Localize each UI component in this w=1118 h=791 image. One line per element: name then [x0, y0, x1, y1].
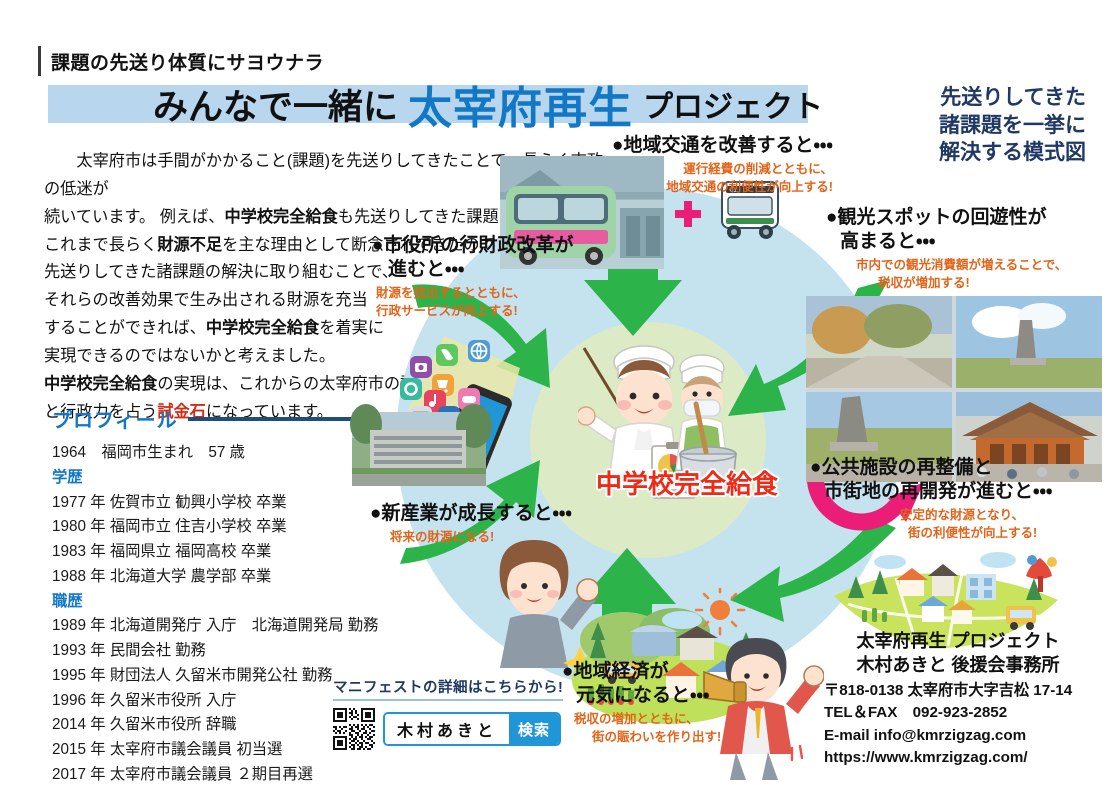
- node-heading-public-facility: ●公共施設の再整備と 市街地の再開発が進むと・・・: [810, 456, 1052, 504]
- node-heading-tourism: ●観光スポットの回遊性が 高まると・・・: [826, 206, 1067, 254]
- copy-line-6b: 中学校完全給食: [206, 319, 319, 337]
- contact-email[interactable]: E-mail info@kmrzigzag.com: [824, 725, 1092, 747]
- node-heading-admin-reform: ●市役所の行財政改革が 進むと・・・: [372, 234, 573, 282]
- kicker-text: 課題の先送り体質にサヨウナラ: [51, 48, 324, 75]
- copy-line-2b: 中学校完全給食: [224, 208, 337, 226]
- festival-decoration: [1026, 555, 1057, 592]
- title-prefix: みんなで一緒に: [153, 79, 398, 130]
- node-sub-admin-reform: 財源を捻出するとともに、 行政サービスが向上する!: [372, 285, 573, 321]
- copy-line-6a: することができれば、: [44, 319, 206, 337]
- title-emphasis: 太宰府再生: [408, 72, 633, 136]
- tagline-line-1: 先送りしてきた: [939, 84, 1086, 112]
- contact-details: 〒818-0138 太宰府市大字吉松 17-14 TEL＆FAX 092-923…: [824, 680, 1092, 769]
- node-label-public-facility: ●公共施設の再整備と 市街地の再開発が進むと・・・ 安定的な財源となり、 街の利…: [810, 456, 1052, 542]
- contact-org-line-1: 太宰府再生 プロジェクト: [824, 630, 1092, 654]
- contact-address: 〒818-0138 太宰府市大字吉松 17-14: [824, 680, 1092, 702]
- copy-line-7: 実現できるのではないかと考えました。: [44, 347, 335, 365]
- copy-line-3a: これまで長らく: [44, 236, 157, 254]
- contact-block: 太宰府再生 プロジェクト 木村あきと 後援会事務所 〒818-0138 太宰府市…: [824, 630, 1092, 769]
- copy-line-5: それらの改善効果で生み出される財源を充当: [44, 291, 368, 309]
- node-label-admin-reform: ●市役所の行財政改革が 進むと・・・ 財源を捻出するとともに、 行政サービスが向…: [372, 234, 573, 320]
- copy-line-8a: 中学校完全給食: [44, 375, 157, 393]
- kicker-block: 課題の先送り体質にサヨウナラ: [38, 46, 324, 76]
- profile-title: プロフィール: [52, 404, 178, 433]
- copy-line-2a: 続いています。 例えば、: [44, 208, 224, 226]
- node-label-tourism: ●観光スポットの回遊性が 高まると・・・ 市内での観光消費額が増えることで、 税…: [826, 206, 1067, 292]
- contact-org-line-2: 木村あきと 後援会事務所: [824, 654, 1092, 678]
- tourism-spots-photo-grid: [806, 296, 1102, 482]
- node-heading-new-industry: ●新産業が成長すると・・・: [370, 502, 572, 526]
- node-sub-transport: 運行経費の削減とともに、 地域交通の利便性が向上する!: [612, 161, 833, 197]
- node-label-local-economy: ●地域経済が 元気になると・・・ 税収の増加とともに、 街の賑わいを作り出す!: [562, 660, 721, 746]
- node-sub-local-economy: 税収の増加とともに、 街の賑わいを作り出す!: [562, 711, 721, 747]
- node-label-new-industry: ●新産業が成長すると・・・ 将来の財源になる!: [370, 502, 572, 547]
- diagram-center-label: 中学校完全給食: [596, 464, 778, 501]
- node-label-transport: ●地域交通を改善すると・・・ 運行経費の削減とともに、 地域交通の利便性が向上す…: [612, 134, 833, 196]
- flyer-page: 課題の先送り体質にサヨウナラ みんなで一緒に 太宰府再生 プロジェクト 先送りし…: [0, 0, 1118, 791]
- copy-line-3b: 財源不足: [157, 236, 222, 254]
- contact-url[interactable]: https://www.kmrzigzag.com/: [824, 747, 1092, 769]
- city-hall-photo: [348, 326, 520, 486]
- main-title: みんなで一緒に 太宰府再生 プロジェクト: [48, 78, 838, 130]
- node-heading-local-economy: ●地域経済が 元気になると・・・: [562, 660, 721, 708]
- kicker-accent-bar: [38, 46, 41, 76]
- node-sub-public-facility: 安定的な財源となり、 街の利便性が向上する!: [810, 507, 1052, 543]
- contact-tel: TEL＆FAX 092-923-2852: [824, 702, 1092, 724]
- node-sub-new-industry: 将来の財源になる!: [370, 529, 572, 547]
- node-heading-transport: ●地域交通を改善すると・・・: [612, 134, 833, 158]
- node-sub-tourism: 市内での観光消費額が増えることで、 税収が増加する!: [826, 257, 1067, 293]
- plus-icon: [674, 200, 702, 228]
- title-suffix: プロジェクト: [643, 82, 823, 126]
